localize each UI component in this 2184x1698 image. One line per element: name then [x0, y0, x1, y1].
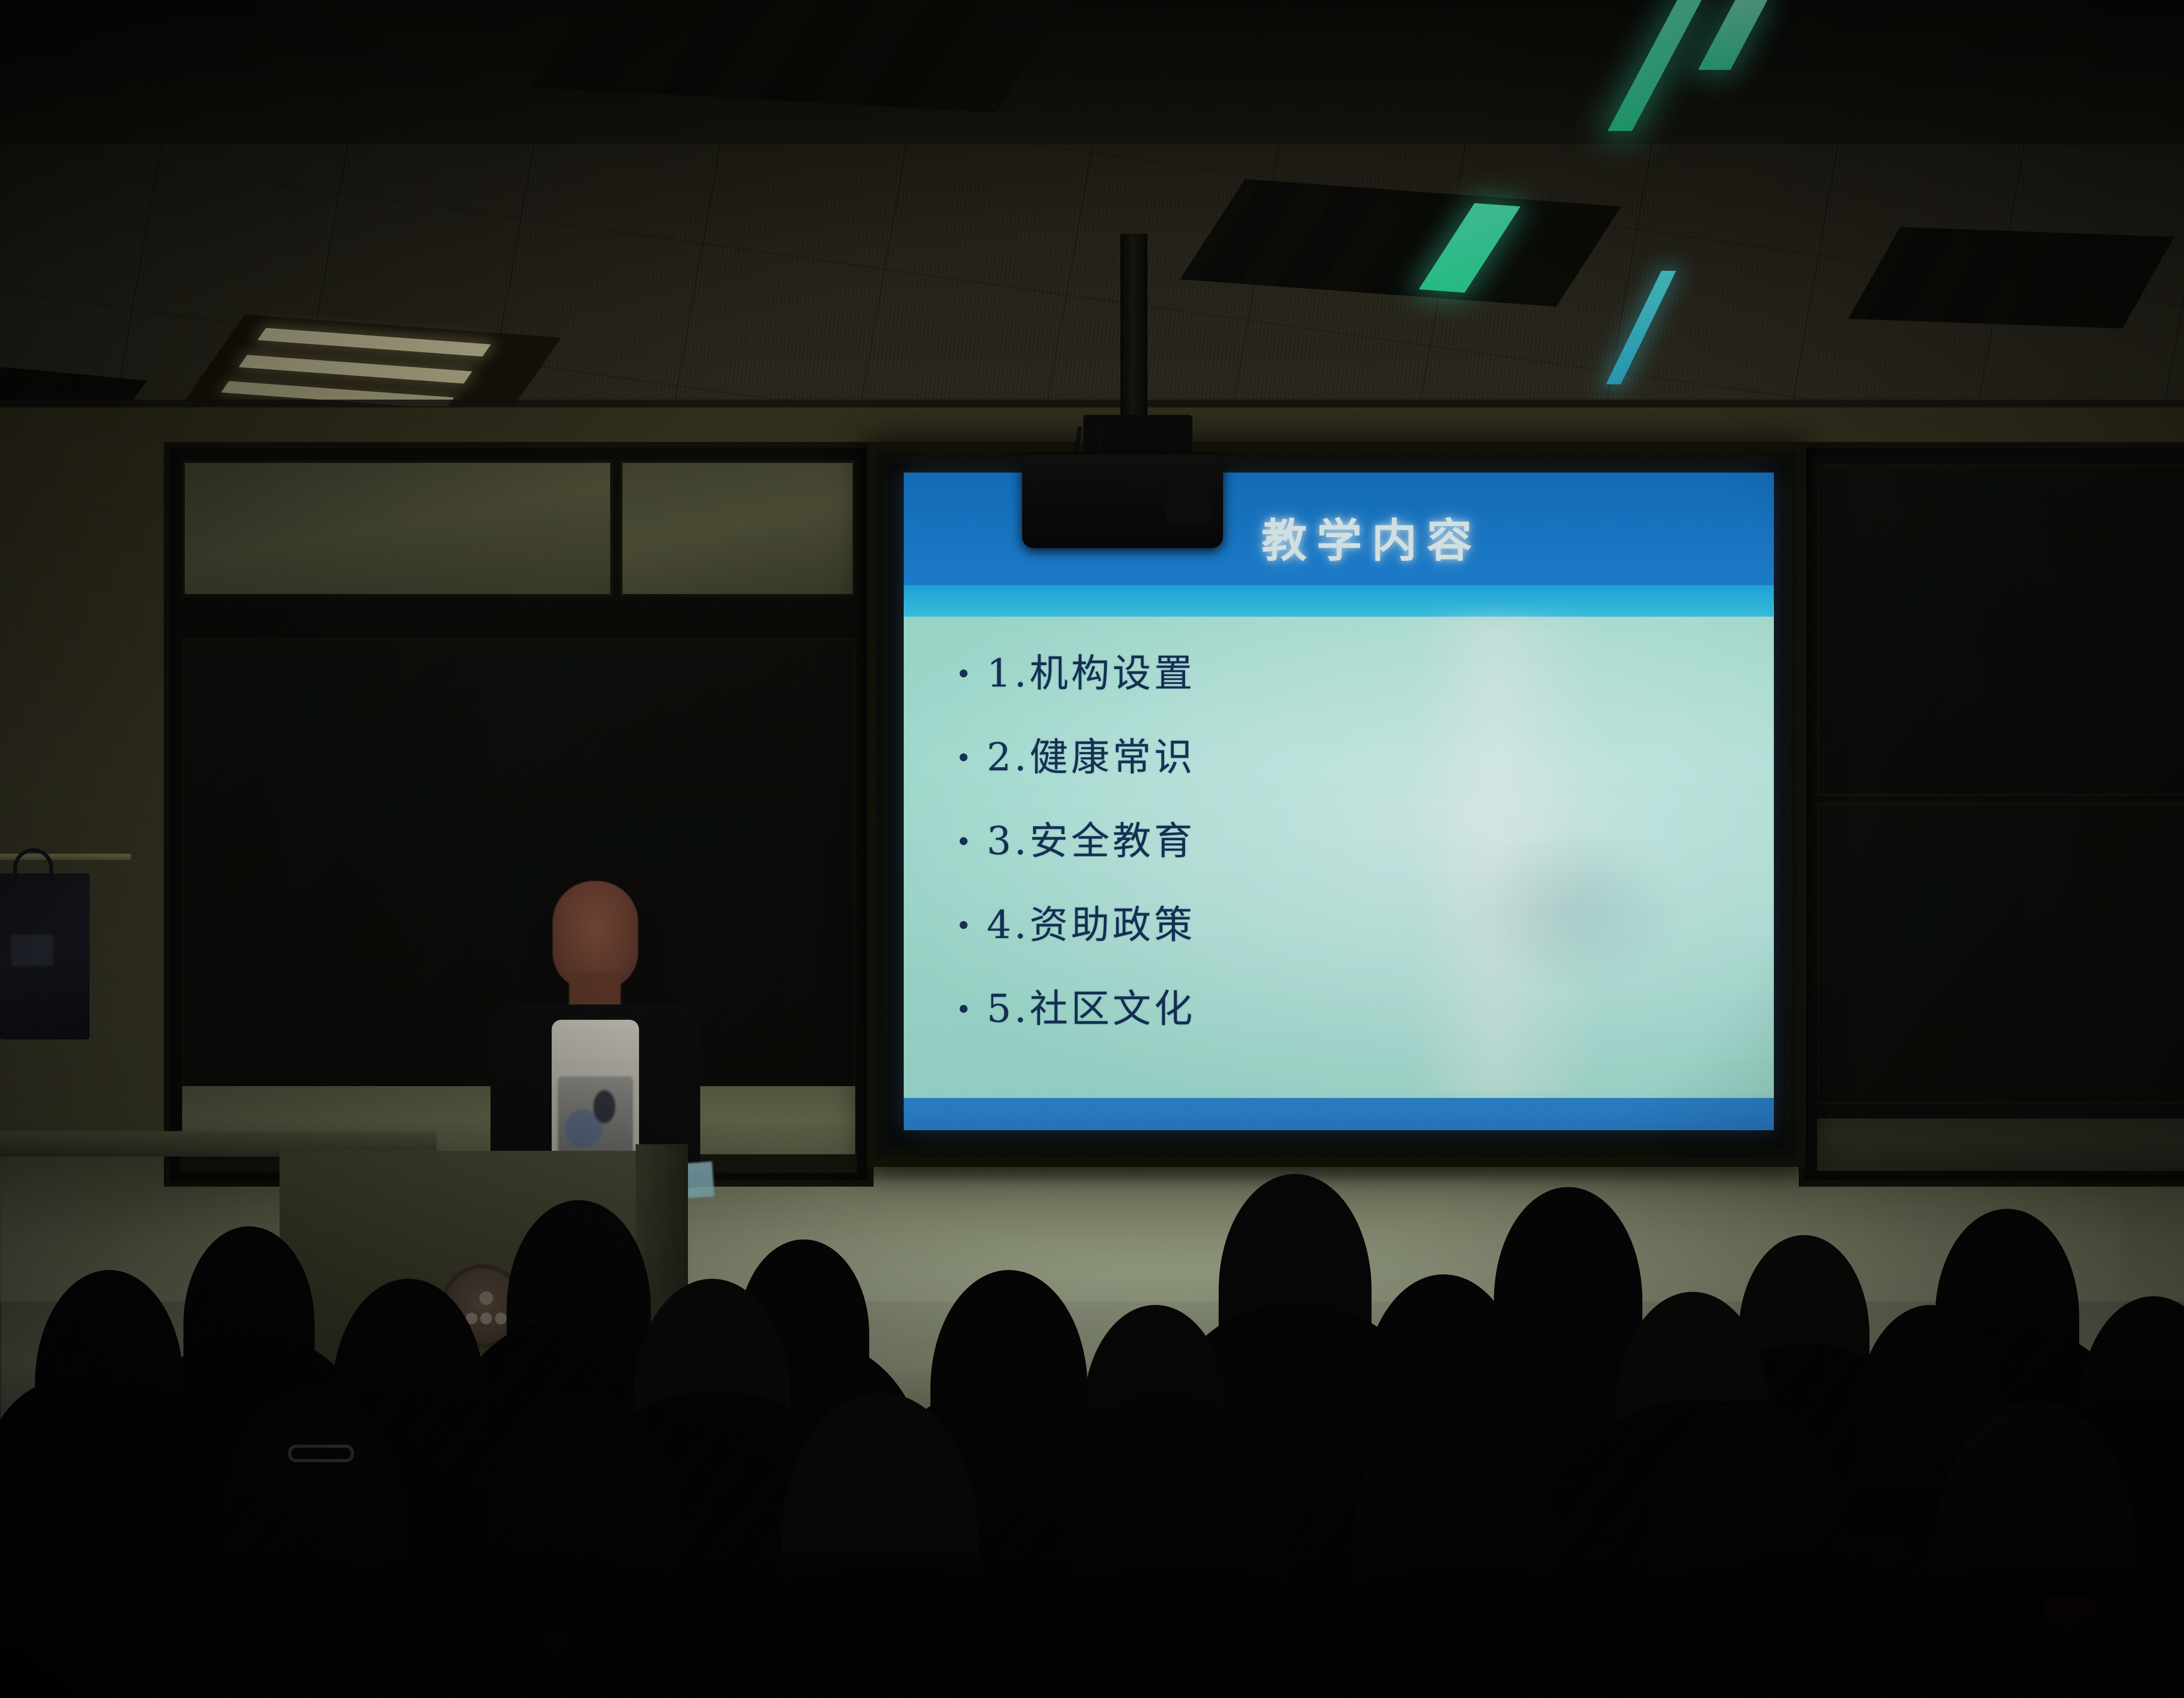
bullet-text: 3.安全教育	[987, 822, 1196, 860]
bullet-dot-icon	[960, 921, 968, 929]
slide-bullet-item: 4.资助政策	[960, 883, 1756, 967]
audience	[0, 1135, 2184, 1698]
ceiling-light-fixture	[1848, 227, 2174, 328]
bullet-text: 5.社区文化	[987, 990, 1196, 1028]
blackboard-track-strip	[182, 602, 855, 636]
presentation-slide: 教学内容 1.机构设置 2.健康常识	[904, 473, 1774, 1130]
bullet-dot-icon	[960, 670, 968, 677]
wall-ceiling-trim	[0, 400, 2184, 407]
audience-glasses	[288, 1445, 354, 1462]
projection-screen: 教学内容 1.机构设置 2.健康常识	[867, 442, 1806, 1167]
bullet-dot-icon	[960, 753, 968, 761]
blackboard-right	[1799, 442, 2184, 1187]
projector-icon	[1022, 454, 1223, 548]
slide-body: 1.机构设置 2.健康常识 3.安全教育 4.资助政策	[904, 617, 1774, 1098]
slide-bullet-list: 1.机构设置 2.健康常识 3.安全教育 4.资助政策	[960, 632, 1756, 1051]
blackboard-writing-surface-lower	[1817, 803, 2184, 1104]
bullet-dot-icon	[960, 837, 968, 845]
slide-bullet-item: 5.社区文化	[960, 967, 1756, 1051]
ceiling-shadow-band	[0, 0, 2184, 144]
projector-mount-pole	[1120, 234, 1147, 421]
audience-foreground-shadow	[0, 1554, 2184, 1698]
projector-lens	[1166, 474, 1214, 527]
slide-footer-bar	[904, 1098, 1774, 1130]
tote-print	[11, 935, 53, 966]
screen-bezel: 教学内容 1.机构设置 2.健康常识	[888, 463, 1785, 1146]
blackboard-panel	[620, 460, 855, 597]
slide-header-accent-band	[904, 585, 1774, 619]
blackboard-upper-panels	[182, 460, 855, 597]
lecture-hall-photo: 教学内容 1.机构设置 2.健康常识	[0, 0, 2184, 1698]
bullet-text: 1.机构设置	[987, 654, 1196, 693]
bullet-text: 2.健康常识	[987, 738, 1196, 777]
ceiling	[0, 0, 2184, 437]
slide-bullet-item: 1.机构设置	[960, 632, 1756, 715]
hanging-tote-bag	[0, 873, 90, 1039]
bullet-dot-icon	[960, 1005, 968, 1013]
slide-bullet-item: 2.健康常识	[960, 715, 1756, 799]
bullet-text: 4.资助政策	[987, 906, 1196, 944]
presenter	[483, 849, 710, 1181]
blackboard-writing-surface	[1817, 464, 2184, 796]
blackboard-panel	[182, 460, 613, 597]
slide-bullet-item: 3.安全教育	[960, 799, 1756, 883]
